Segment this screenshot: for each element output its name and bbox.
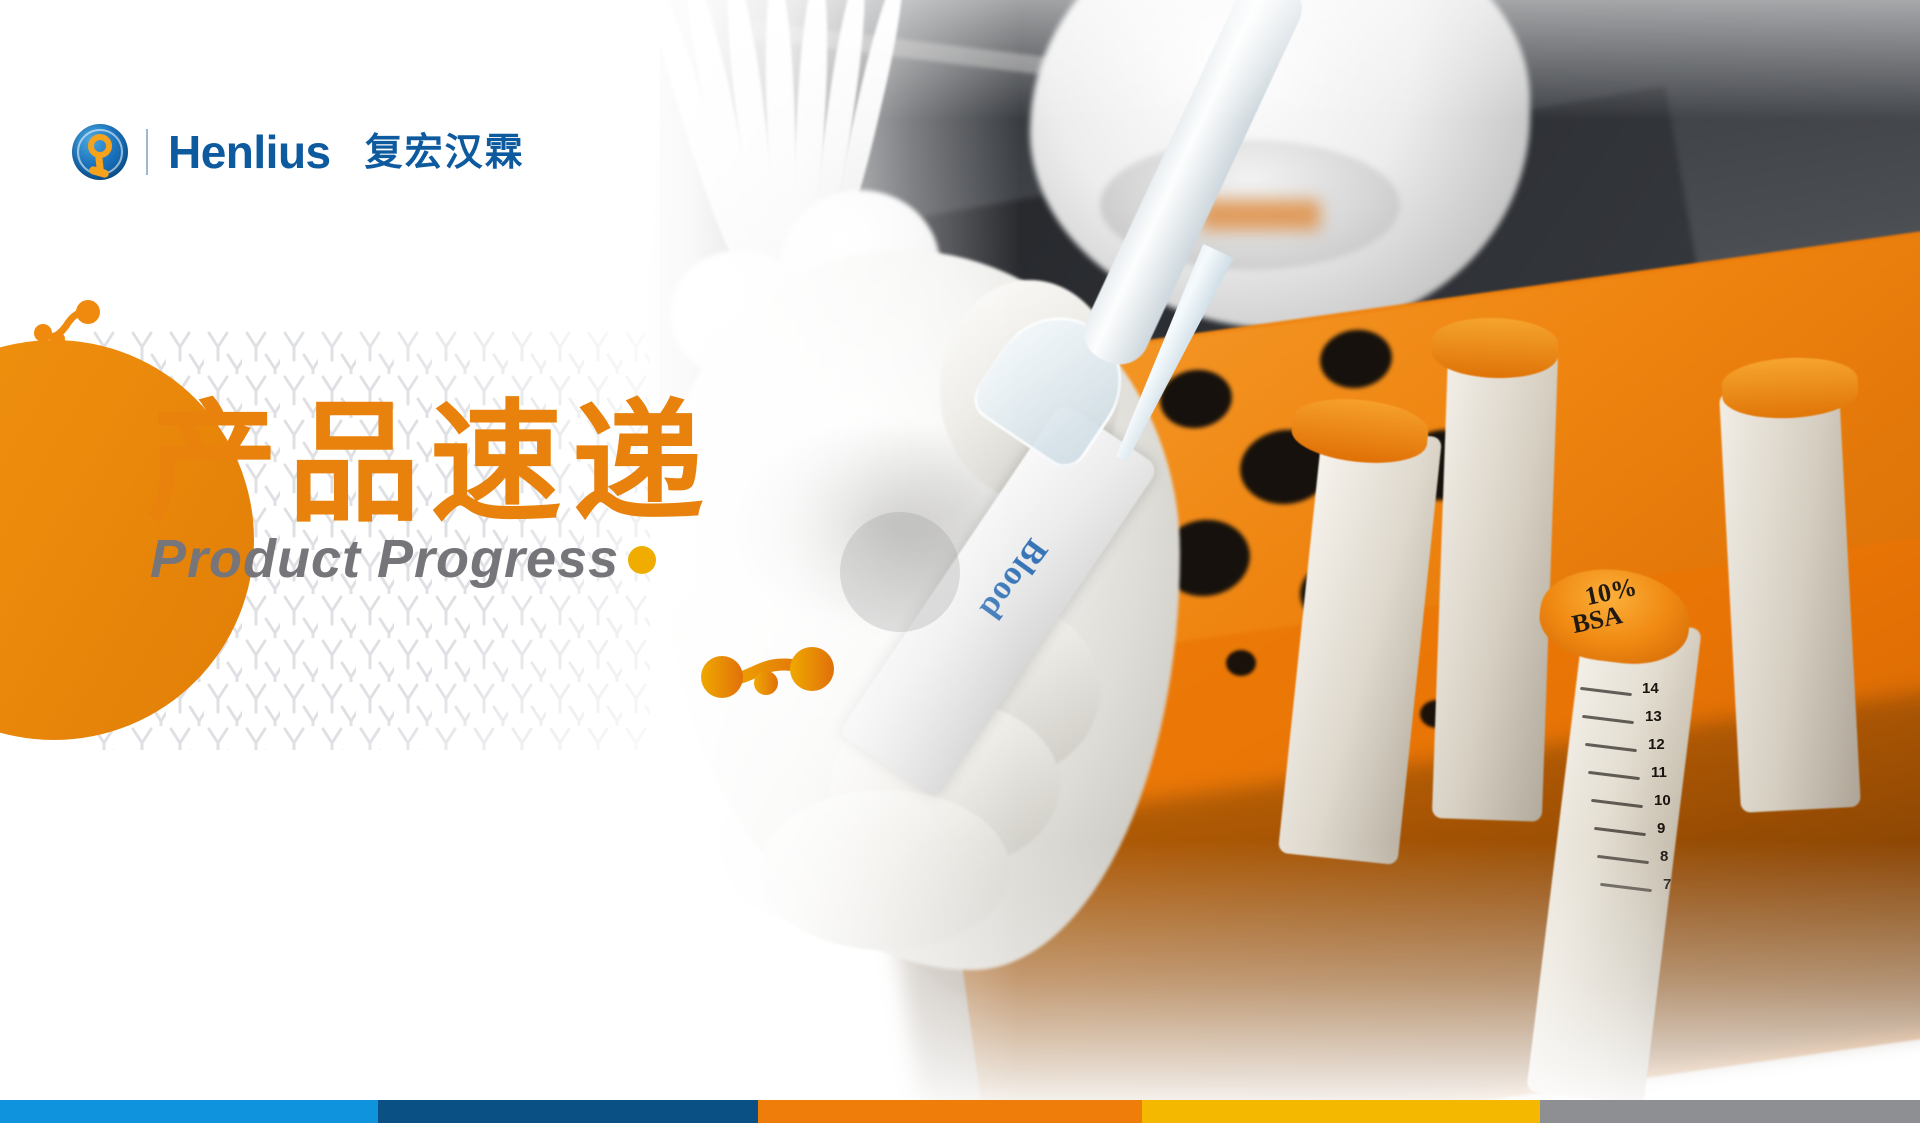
bar-segment-dark-blue: [378, 1100, 758, 1123]
lab-photograph: 10% BSA 14 13 12 11 10 9 8 7: [600, 0, 1920, 1100]
orange-smudge: [1200, 200, 1320, 230]
logo-wordmark: Henlius: [168, 129, 331, 175]
grey-circle-decoration: [840, 512, 960, 632]
bar-segment-gold: [1142, 1100, 1540, 1123]
sample-tube: [1719, 387, 1861, 813]
graduation-label: 9: [1657, 820, 1665, 837]
rack-hole-small: [1226, 650, 1256, 676]
bottom-color-bar: [0, 1100, 1920, 1123]
logo-chinese-name: 复宏汉霖: [365, 133, 525, 171]
logo-divider: [146, 129, 148, 175]
molecule-decoration-large: [700, 647, 836, 703]
bar-segment-grey: [1540, 1100, 1920, 1123]
graduation-label: 13: [1645, 708, 1662, 725]
henlius-logo[interactable]: Henlius 复宏汉霖: [72, 124, 525, 180]
bar-segment-orange: [758, 1100, 1142, 1123]
graduation-label: 11: [1651, 764, 1667, 781]
graduation-label: 14: [1642, 680, 1659, 697]
graduation-label: 12: [1648, 736, 1665, 753]
slide-title-chinese: 产品速递: [146, 392, 714, 537]
slide-subtitle-english: Product Progress: [150, 528, 619, 590]
graduation-label: 10: [1654, 792, 1671, 809]
presentation-slide: 10% BSA 14 13 12 11 10 9 8 7: [0, 0, 1920, 1123]
molecule-decoration-small: [30, 300, 110, 352]
henlius-emblem-icon: [72, 124, 128, 180]
bar-segment-light-blue: [0, 1100, 378, 1123]
yellow-dot-decoration: [628, 546, 656, 574]
sample-tube: [1432, 348, 1558, 822]
photo-left-fade: [600, 0, 1020, 1100]
photo-content: 10% BSA 14 13 12 11 10 9 8 7: [600, 0, 1920, 1100]
